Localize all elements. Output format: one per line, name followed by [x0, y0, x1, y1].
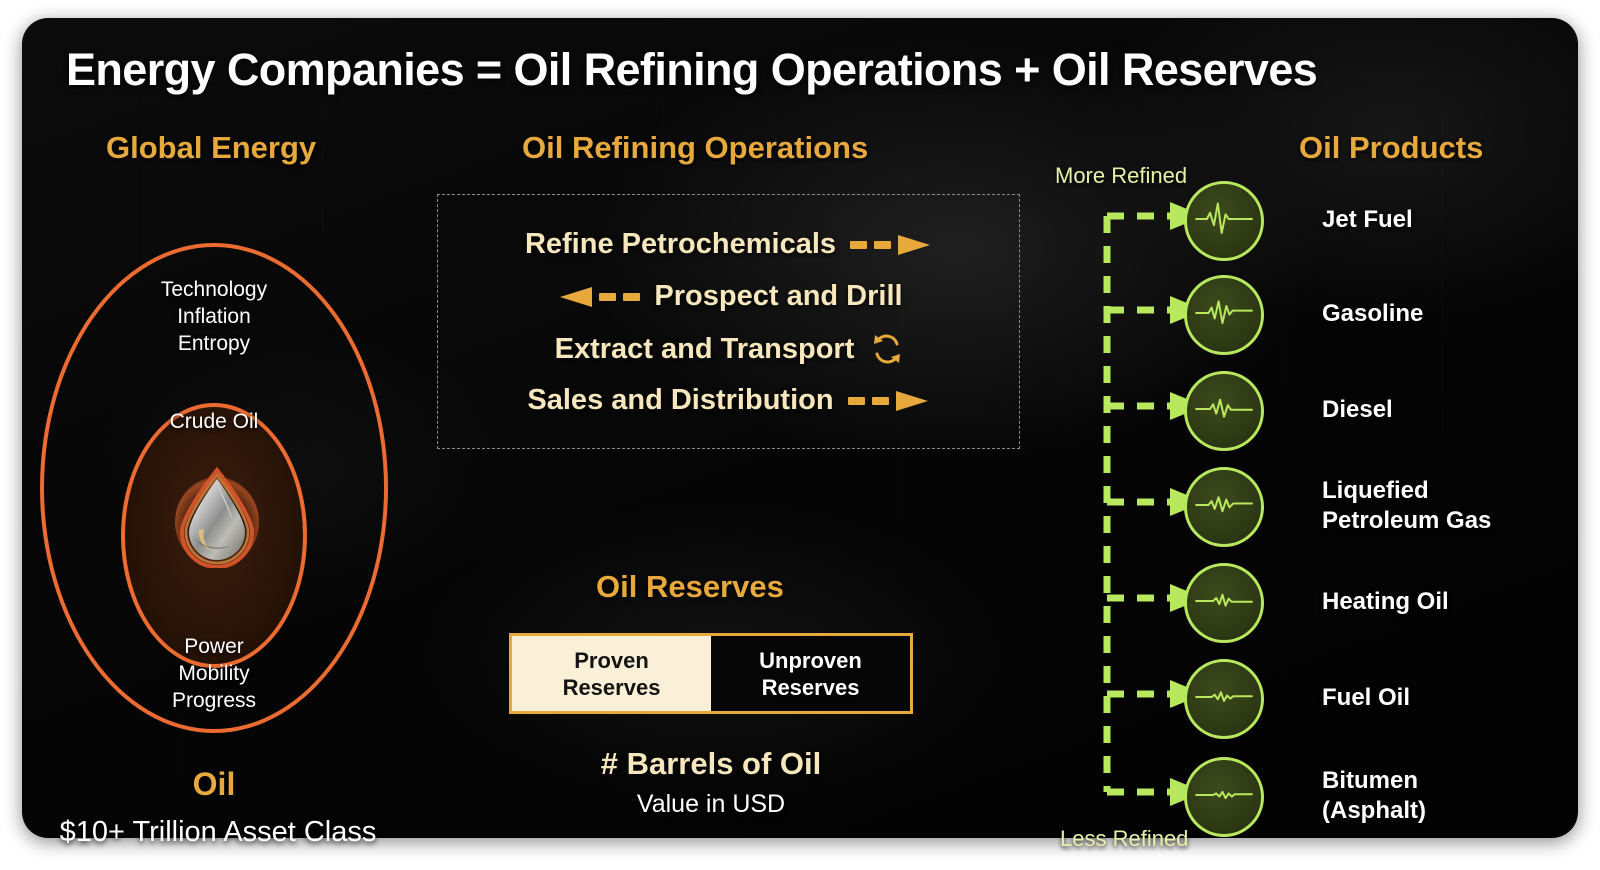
proven-line-2: Reserves	[563, 675, 661, 700]
unproven-line-1: Unproven	[759, 648, 862, 673]
product-label-2: Gasoline	[1322, 299, 1423, 329]
product-label-7-line-2: (Asphalt)	[1322, 796, 1426, 826]
proven-reserves-segment[interactable]: Proven Reserves	[512, 636, 711, 711]
outer-oval-bottom-labels: Power Mobility Progress	[44, 633, 384, 714]
outer-oval-top-labels: Technology Inflation Entropy	[44, 276, 384, 357]
unproven-reserves-segment[interactable]: Unproven Reserves	[711, 636, 910, 711]
waveform-icon	[1193, 579, 1255, 628]
reserves-bar[interactable]: Proven Reserves Unproven Reserves	[509, 633, 913, 714]
refining-label-0: Refine Petrochemicals	[525, 228, 836, 261]
label-mobility: Mobility	[44, 660, 384, 687]
label-progress: Progress	[44, 687, 384, 714]
heading-oil-refining: Oil Refining Operations	[522, 130, 868, 166]
dashed-arrow-right-icon	[850, 234, 934, 256]
product-label-2-line-1: Gasoline	[1322, 299, 1423, 329]
infographic-canvas: Energy Companies = Oil Refining Operatio…	[0, 0, 1600, 870]
label-power: Power	[44, 633, 384, 660]
less-refined-note: Less Refined	[1060, 826, 1188, 852]
product-circle-2[interactable]	[1184, 275, 1264, 355]
waveform-icon	[1193, 387, 1255, 436]
dashed-arrow-left-icon	[556, 286, 640, 308]
oil-droplet-icon	[174, 466, 260, 568]
product-label-4: LiquefiedPetroleum Gas	[1322, 476, 1491, 536]
product-label-5: Heating Oil	[1322, 587, 1449, 617]
unproven-line-2: Reserves	[762, 675, 860, 700]
refining-row-sales-and-distribution: Sales and Distribution	[438, 384, 1021, 417]
label-technology: Technology	[44, 276, 384, 303]
product-label-1-line-1: Jet Fuel	[1322, 205, 1413, 235]
refining-row-refine-petrochemicals: Refine Petrochemicals	[438, 228, 1021, 261]
dashed-arrow-right-icon-2	[848, 390, 932, 412]
product-label-4-line-1: Liquefied	[1322, 476, 1491, 506]
barrels-metric: # Barrels of Oil	[509, 746, 913, 782]
cycle-icon	[870, 332, 904, 366]
product-label-3: Diesel	[1322, 395, 1393, 425]
waveform-icon	[1193, 773, 1255, 822]
refining-operations-box: Refine Petrochemicals	[437, 194, 1020, 449]
crude-oil-label: Crude Oil	[121, 410, 307, 434]
product-circle-3[interactable]	[1184, 371, 1264, 451]
label-entropy: Entropy	[44, 330, 384, 357]
product-label-6-line-1: Fuel Oil	[1322, 683, 1410, 713]
waveform-icon	[1193, 675, 1255, 724]
waveform-icon	[1193, 197, 1255, 246]
product-label-1: Jet Fuel	[1322, 205, 1413, 235]
product-label-4-line-2: Petroleum Gas	[1322, 506, 1491, 536]
product-label-3-line-1: Diesel	[1322, 395, 1393, 425]
asset-class-label: $10+ Trillion Asset Class	[38, 816, 398, 849]
heading-oil-products: Oil Products	[1299, 130, 1483, 166]
product-circle-5[interactable]	[1184, 563, 1264, 643]
page-title: Energy Companies = Oil Refining Operatio…	[66, 44, 1317, 96]
refining-row-extract-and-transport: Extract and Transport	[438, 332, 1021, 366]
refining-label-3: Sales and Distribution	[527, 384, 833, 417]
refining-row-prospect-and-drill: Prospect and Drill	[438, 280, 1021, 313]
heading-global-energy: Global Energy	[106, 130, 316, 166]
refining-label-2: Extract and Transport	[555, 333, 855, 366]
product-label-6: Fuel Oil	[1322, 683, 1410, 713]
more-refined-note: More Refined	[1055, 163, 1187, 189]
waveform-icon	[1193, 291, 1255, 340]
product-circle-4[interactable]	[1184, 467, 1264, 547]
heading-oil-reserves: Oil Reserves	[596, 569, 784, 605]
label-inflation: Inflation	[44, 303, 384, 330]
infographic-card: Energy Companies = Oil Refining Operatio…	[22, 18, 1578, 838]
product-label-7-line-1: Bitumen	[1322, 766, 1426, 796]
oil-footer-label: Oil	[40, 766, 388, 803]
product-circle-7[interactable]	[1184, 757, 1264, 837]
barrels-metric-sub: Value in USD	[509, 790, 913, 819]
proven-line-1: Proven	[574, 648, 649, 673]
product-circle-6[interactable]	[1184, 659, 1264, 739]
product-label-5-line-1: Heating Oil	[1322, 587, 1449, 617]
product-circle-1[interactable]	[1184, 181, 1264, 261]
product-label-7: Bitumen(Asphalt)	[1322, 766, 1426, 826]
refining-label-1: Prospect and Drill	[654, 280, 902, 313]
waveform-icon	[1193, 483, 1255, 532]
